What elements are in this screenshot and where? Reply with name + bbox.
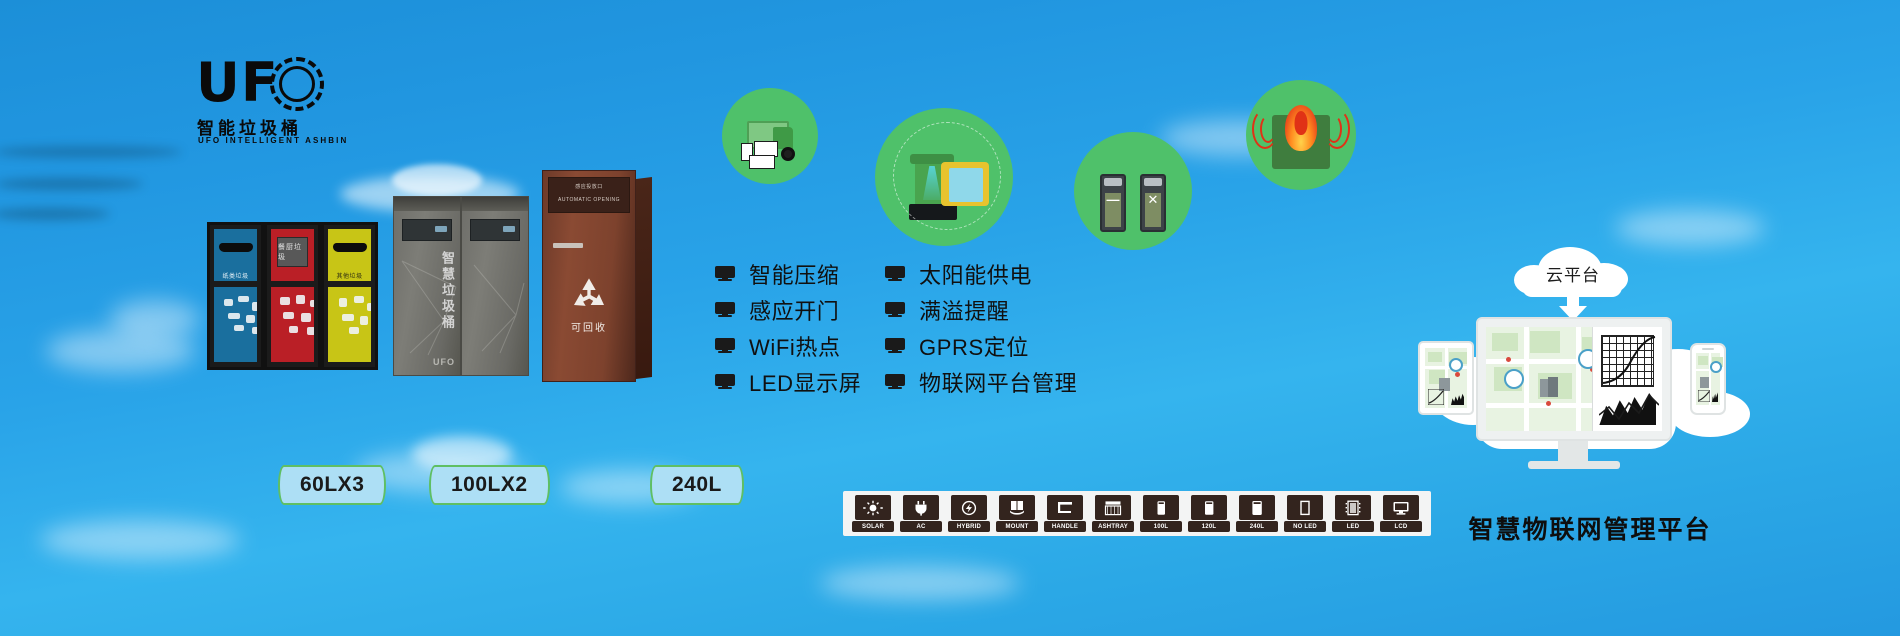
compaction-bin-left: — bbox=[1100, 174, 1126, 232]
bin-grey-vertical-text: 智慧垃圾桶 bbox=[438, 251, 457, 331]
feature-label: 满溢提醒 bbox=[919, 294, 1009, 326]
monitor-icon bbox=[715, 302, 735, 317]
feature-label: GPRS定位 bbox=[919, 330, 1029, 362]
cloud-decoration bbox=[1615, 210, 1765, 246]
spec-caption: LED bbox=[1332, 521, 1374, 532]
spec-item-solar: SOLAR bbox=[851, 495, 895, 532]
bin-red: 餐厨垃圾 bbox=[264, 222, 321, 370]
dashboard-chart-panel bbox=[1592, 327, 1662, 431]
product-brown-recycle-unit: 感应投放口 AUTOMATIC OPENING 可回收 bbox=[542, 170, 636, 382]
device-phone bbox=[1690, 343, 1726, 415]
bin-blue-top-panel: 纸类垃圾 bbox=[214, 229, 257, 281]
device-monitor bbox=[1476, 317, 1672, 441]
spec-caption: SOLAR bbox=[852, 521, 894, 532]
sun-icon bbox=[855, 495, 891, 520]
spec-caption: HANDLE bbox=[1044, 521, 1086, 532]
feature-label: LED显示屏 bbox=[749, 366, 861, 398]
cloud-decoration bbox=[110, 300, 200, 338]
spec-item-mount: MOUNT bbox=[995, 495, 1039, 532]
cloud-label: 云平台 bbox=[1514, 261, 1632, 286]
dashboard-map-panel bbox=[1486, 327, 1592, 431]
product-grey-double-unit: 智慧垃圾桶 UFO bbox=[393, 196, 530, 384]
bin-brown-body: 感应投放口 AUTOMATIC OPENING 可回收 bbox=[542, 170, 636, 382]
bin-yellow-label: 其他垃圾 bbox=[328, 271, 371, 280]
bin-blue-slot bbox=[219, 243, 253, 252]
feature-label: 太阳能供电 bbox=[919, 258, 1032, 290]
bin-blue: 纸类垃圾 bbox=[207, 222, 264, 370]
waste-pictogram bbox=[220, 293, 251, 356]
wall-mount-icon bbox=[999, 495, 1035, 520]
feature-item: 智能压缩 bbox=[715, 258, 861, 289]
cloud-platform-badge: 云平台 bbox=[1514, 245, 1632, 299]
spec-item-100l: 100L bbox=[1139, 495, 1183, 532]
waste-pictogram bbox=[334, 293, 365, 356]
cloud-decoration bbox=[40, 520, 240, 560]
spec-caption: MOUNT bbox=[996, 521, 1038, 532]
bin-blue-label: 纸类垃圾 bbox=[214, 271, 257, 280]
bin-brown-label: 可回收 bbox=[543, 319, 635, 334]
growth-curve bbox=[1601, 335, 1657, 387]
lightning-circle-icon bbox=[951, 495, 987, 520]
bin-red-label: 餐厨垃圾 bbox=[278, 242, 307, 262]
bin-cap bbox=[1144, 178, 1162, 186]
spec-caption: 240L bbox=[1236, 521, 1278, 532]
monitor-icon bbox=[885, 302, 905, 317]
phone-speaker bbox=[1702, 348, 1714, 350]
bin-120l-icon bbox=[1191, 495, 1227, 520]
spec-caption: NO LED bbox=[1284, 521, 1326, 532]
ufo-brand-logo: UF 智能垃圾桶 UFO INTELLIGENT ASHBIN bbox=[196, 56, 346, 156]
feature-label: 感应开门 bbox=[749, 294, 839, 326]
logo-english-name: UFO INTELLIGENT ASHBIN bbox=[198, 136, 348, 145]
bin-yellow-slot bbox=[333, 243, 367, 252]
logo-ring-inner-icon bbox=[279, 66, 315, 102]
hood-text-chinese: 感应投放口 bbox=[549, 184, 629, 191]
bin-grey-left: 智慧垃圾桶 UFO bbox=[393, 196, 461, 376]
monitor-icon bbox=[715, 374, 735, 389]
spec-item-no-led: NO LED bbox=[1283, 495, 1327, 532]
spec-item-ashtray: ASHTRAY bbox=[1091, 495, 1135, 532]
spec-icon-strip: SOLAR AC HYBRID MOUNT HANDLE bbox=[843, 491, 1431, 536]
bin-grey-left-window bbox=[402, 219, 452, 241]
bin-240l-icon bbox=[1239, 495, 1275, 520]
spec-caption: AC bbox=[900, 521, 942, 532]
bin-shadow bbox=[0, 208, 110, 220]
capacity-tag-100lx2: 100LX2 bbox=[429, 465, 550, 505]
badge-compaction-status: — ✕ bbox=[1074, 132, 1192, 250]
spec-caption: ASHTRAY bbox=[1092, 521, 1134, 532]
recycle-icon bbox=[569, 275, 609, 315]
trend-icon bbox=[1698, 390, 1710, 402]
feature-item: 满溢提醒 bbox=[885, 294, 1077, 325]
bin-shadow bbox=[0, 146, 182, 158]
capacity-tag-60lx3: 60LX3 bbox=[278, 465, 386, 505]
spec-item-240l: 240L bbox=[1235, 495, 1279, 532]
bin-grey-left-lid bbox=[394, 197, 460, 211]
feature-label: 智能压缩 bbox=[749, 258, 839, 290]
monitor-icon bbox=[885, 266, 905, 281]
device-tablet bbox=[1418, 341, 1474, 415]
bin-grey-brand-mark: UFO bbox=[433, 357, 455, 367]
feature-label: WiFi热点 bbox=[749, 330, 841, 362]
bin-blue-graphic-panel bbox=[214, 287, 257, 362]
monitor-icon bbox=[715, 338, 735, 353]
feature-item: 物联网平台管理 bbox=[885, 366, 1077, 397]
power-plug-icon bbox=[903, 495, 939, 520]
bin-brown-sensor-strip bbox=[553, 243, 583, 248]
bin-grey-right bbox=[461, 196, 529, 376]
spec-caption: HYBRID bbox=[948, 521, 990, 532]
bin-yellow: 其他垃圾 bbox=[321, 222, 378, 370]
bin-red-display: 餐厨垃圾 bbox=[277, 237, 308, 267]
twin-bin-compaction-icon: — ✕ bbox=[1074, 132, 1192, 250]
monitor-icon bbox=[885, 374, 905, 389]
spec-item-hybrid: HYBRID bbox=[947, 495, 991, 532]
spec-caption: 120L bbox=[1188, 521, 1230, 532]
feature-label: 物联网平台管理 bbox=[919, 366, 1077, 398]
phone-map-view bbox=[1696, 353, 1720, 405]
monitor-screen bbox=[1486, 327, 1662, 431]
ashtray-icon bbox=[1095, 495, 1131, 520]
promotional-banner: UF 智能垃圾桶 UFO INTELLIGENT ASHBIN 纸类垃圾 bbox=[0, 0, 1900, 636]
status-glyph: — bbox=[1107, 192, 1120, 207]
logo-wordmark: UF bbox=[196, 56, 279, 110]
indicator-light bbox=[435, 226, 447, 232]
bin-100l-icon bbox=[1143, 495, 1179, 520]
status-glyph: ✕ bbox=[1148, 192, 1159, 208]
tablet-map-view bbox=[1425, 348, 1467, 408]
feature-item: GPRS定位 bbox=[885, 330, 1077, 361]
badge-fire-alarm bbox=[1246, 80, 1356, 190]
dashed-flow-ring bbox=[893, 122, 1001, 230]
bin-cap bbox=[1104, 178, 1122, 186]
feature-list-column-1: 智能压缩 感应开门 WiFi热点 LED显示屏 bbox=[715, 258, 861, 402]
bin-grey-right-lid bbox=[462, 197, 528, 211]
feature-item: LED显示屏 bbox=[715, 366, 861, 397]
bin-yellow-top-panel: 其他垃圾 bbox=[328, 229, 371, 281]
monitor-base bbox=[1528, 461, 1620, 469]
surface-pattern bbox=[466, 257, 526, 357]
spec-caption: 100L bbox=[1140, 521, 1182, 532]
capacity-tag-240l: 240L bbox=[650, 465, 744, 505]
bin-fire-alarm-icon bbox=[1246, 80, 1356, 190]
bin-brown-side-panel bbox=[636, 177, 652, 379]
feature-item: WiFi热点 bbox=[715, 330, 861, 361]
bin-red-top-panel: 餐厨垃圾 bbox=[271, 229, 314, 281]
product-three-colour-unit: 纸类垃圾 餐厨垃圾 bbox=[207, 222, 379, 380]
monitor-icon bbox=[885, 338, 905, 353]
bin-shadow bbox=[0, 178, 143, 190]
bin-yellow-graphic-panel bbox=[328, 287, 371, 362]
iot-platform-illustration: 云平台 bbox=[1418, 245, 1758, 495]
blank-panel-icon bbox=[1287, 495, 1323, 520]
bin-grey-right-window bbox=[470, 219, 520, 241]
alarm-wave bbox=[1252, 109, 1278, 149]
monitor-stand bbox=[1558, 441, 1588, 463]
indicator-light bbox=[503, 226, 515, 232]
platform-caption: 智慧物联网管理平台 bbox=[1380, 510, 1800, 546]
feature-item: 太阳能供电 bbox=[885, 258, 1077, 289]
spec-item-120l: 120L bbox=[1187, 495, 1231, 532]
garbage-truck-icon bbox=[722, 88, 818, 184]
line-overlay bbox=[1599, 385, 1659, 425]
spec-item-led: LED bbox=[1331, 495, 1375, 532]
badge-collection-dispatch bbox=[722, 88, 818, 184]
alarm-wave bbox=[1324, 109, 1350, 149]
trend-icon bbox=[1428, 389, 1444, 405]
cloud-decoration bbox=[392, 164, 482, 196]
bin-brown-hood: 感应投放口 AUTOMATIC OPENING bbox=[548, 177, 630, 213]
monitor-icon bbox=[715, 266, 735, 281]
hood-text-english: AUTOMATIC OPENING bbox=[549, 197, 629, 204]
waste-pictogram bbox=[277, 293, 308, 356]
led-panel-icon bbox=[1335, 495, 1371, 520]
bin-red-graphic-panel bbox=[271, 287, 314, 362]
compaction-bin-right: ✕ bbox=[1140, 174, 1166, 232]
handle-icon bbox=[1047, 495, 1083, 520]
feature-list-column-2: 太阳能供电 满溢提醒 GPRS定位 物联网平台管理 bbox=[885, 258, 1077, 402]
spec-item-ac: AC bbox=[899, 495, 943, 532]
device-cluster-icon bbox=[741, 141, 787, 169]
flame-core bbox=[1295, 111, 1308, 135]
feature-item: 感应开门 bbox=[715, 294, 861, 325]
cloud-decoration bbox=[820, 566, 1020, 600]
spec-item-handle: HANDLE bbox=[1043, 495, 1087, 532]
